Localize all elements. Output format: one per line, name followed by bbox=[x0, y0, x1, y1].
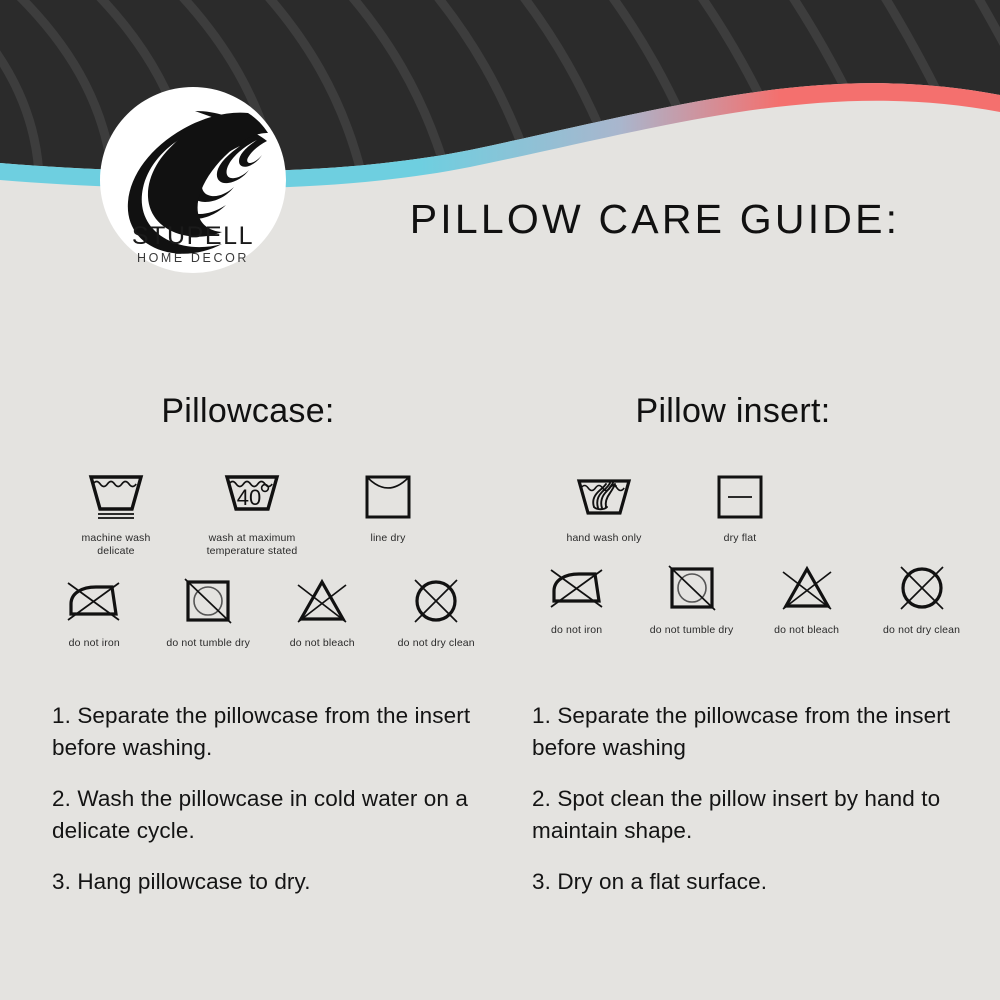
do-not-dry-clean-icon bbox=[896, 559, 948, 617]
pillow-care-guide-page: STUPELL HOME DECOR PILLOW CARE GUIDE: Pi… bbox=[0, 0, 1000, 1000]
symbol-do-not-iron: do not iron bbox=[52, 572, 136, 650]
instruction-item: 2. Spot clean the pillow insert by hand … bbox=[532, 783, 972, 847]
do-not-iron-icon bbox=[549, 559, 605, 617]
symbol-caption: do not dry clean bbox=[883, 624, 960, 637]
instruction-item: 1. Separate the pillowcase from the inse… bbox=[52, 700, 502, 764]
symbol-caption: do not tumble dry bbox=[166, 637, 250, 650]
symbol-caption: hand wash only bbox=[566, 532, 641, 545]
do-not-tumble-dry-icon bbox=[182, 572, 234, 630]
instruction-item: 3. Dry on a flat surface. bbox=[532, 866, 972, 898]
do-not-iron-icon bbox=[66, 572, 122, 630]
wash-40-degrees-icon: 40 bbox=[223, 467, 281, 525]
do-not-bleach-icon bbox=[295, 572, 349, 630]
do-not-bleach-icon bbox=[780, 559, 834, 617]
instruction-item: 1. Separate the pillowcase from the inse… bbox=[532, 700, 972, 764]
symbol-do-not-dry-clean: do not dry clean bbox=[871, 559, 972, 637]
symbol-caption: machine wash delicate bbox=[82, 532, 151, 558]
symbol-caption: do not dry clean bbox=[398, 637, 475, 650]
symbol-caption: do not tumble dry bbox=[650, 624, 734, 637]
pillow-insert-section: Pillow insert: bbox=[532, 392, 972, 637]
symbol-caption: do not iron bbox=[69, 637, 120, 650]
symbol-dry-flat: dry flat bbox=[694, 467, 786, 545]
symbol-do-not-bleach: do not bleach bbox=[762, 559, 851, 637]
symbol-do-not-tumble-dry: do not tumble dry bbox=[641, 559, 742, 637]
symbol-caption: dry flat bbox=[724, 532, 757, 545]
symbol-line-dry: line dry bbox=[342, 467, 434, 545]
symbol-wash-40-degrees: 40 wash at maximum temperature stated bbox=[200, 467, 304, 558]
instruction-item: 3. Hang pillowcase to dry. bbox=[52, 866, 502, 898]
do-not-dry-clean-icon bbox=[410, 572, 462, 630]
page-title: PILLOW CARE GUIDE: bbox=[0, 196, 1000, 243]
pillowcase-section: Pillowcase: machine wash delicate bbox=[52, 392, 492, 650]
dry-flat-icon bbox=[715, 467, 765, 525]
symbol-caption: do not iron bbox=[551, 624, 602, 637]
symbol-row-prohibitions: do not iron do not tumble dry bbox=[532, 559, 972, 637]
line-dry-icon bbox=[363, 467, 413, 525]
symbol-row-wash: hand wash only dry flat bbox=[532, 467, 972, 545]
symbol-do-not-bleach: do not bleach bbox=[280, 572, 364, 650]
symbol-do-not-iron: do not iron bbox=[532, 559, 621, 637]
section-heading-pillowcase: Pillowcase: bbox=[52, 392, 492, 431]
svg-text:40: 40 bbox=[237, 485, 261, 510]
symbol-row-wash: machine wash delicate 40 wash at maximum… bbox=[52, 467, 492, 558]
symbol-machine-wash-delicate: machine wash delicate bbox=[70, 467, 162, 558]
symbol-caption: do not bleach bbox=[290, 637, 355, 650]
symbol-caption: line dry bbox=[370, 532, 405, 545]
hand-wash-only-icon bbox=[575, 467, 633, 525]
symbol-hand-wash-only: hand wash only bbox=[558, 467, 650, 545]
instruction-item: 2. Wash the pillowcase in cold water on … bbox=[52, 783, 502, 847]
symbol-do-not-dry-clean: do not dry clean bbox=[388, 572, 484, 650]
symbol-caption: do not bleach bbox=[774, 624, 839, 637]
brand-tagline: HOME DECOR bbox=[137, 251, 249, 265]
pillow-insert-instructions: 1. Separate the pillowcase from the inse… bbox=[532, 700, 972, 917]
symbol-caption: wash at maximum temperature stated bbox=[207, 532, 298, 558]
symbol-row-prohibitions: do not iron do not tumble dry bbox=[52, 572, 492, 650]
section-heading-pillow-insert: Pillow insert: bbox=[532, 392, 972, 431]
machine-wash-delicate-icon bbox=[87, 467, 145, 525]
symbol-do-not-tumble-dry: do not tumble dry bbox=[160, 572, 256, 650]
pillowcase-instructions: 1. Separate the pillowcase from the inse… bbox=[52, 700, 502, 917]
brand-logo: STUPELL HOME DECOR bbox=[100, 85, 286, 275]
do-not-tumble-dry-icon bbox=[666, 559, 718, 617]
